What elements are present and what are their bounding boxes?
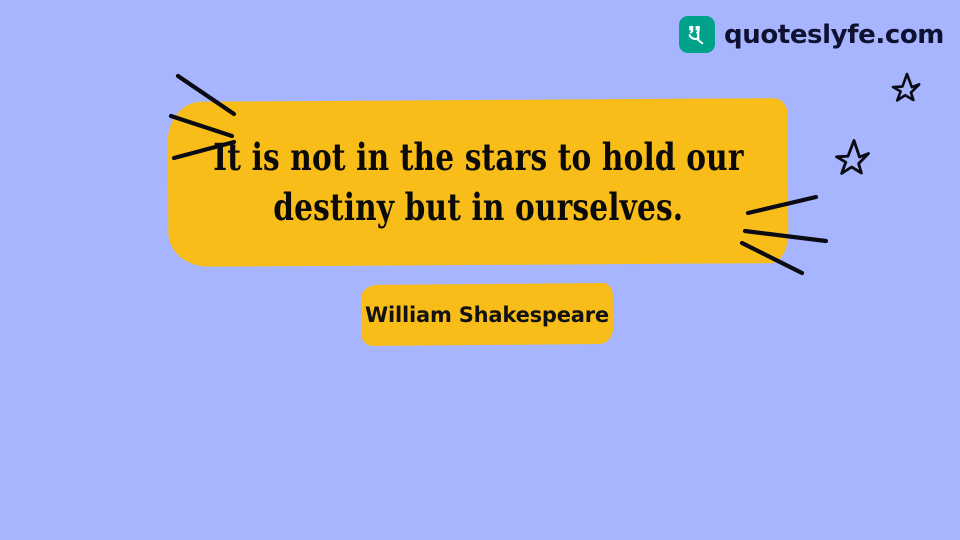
emphasis-lines-left <box>170 72 270 167</box>
emphasis-lines-right <box>740 183 840 278</box>
doodle-star-lower-icon <box>833 137 873 179</box>
author-name: William Shakespeare <box>361 284 613 345</box>
brand-name: quoteslyfe.com <box>724 22 944 48</box>
quote-line-2: destiny but in ourselves. <box>273 183 683 232</box>
brand-watermark[interactable]: quoteslyfe.com <box>679 16 944 53</box>
quote-card: quoteslyfe.com It is not in the stars to… <box>0 0 960 540</box>
quote-line-1: It is not in the stars to hold our <box>213 133 743 182</box>
doodle-star-top-icon <box>890 71 922 105</box>
quote-smiley-icon <box>679 16 715 53</box>
author-chip: William Shakespeare <box>361 284 613 345</box>
